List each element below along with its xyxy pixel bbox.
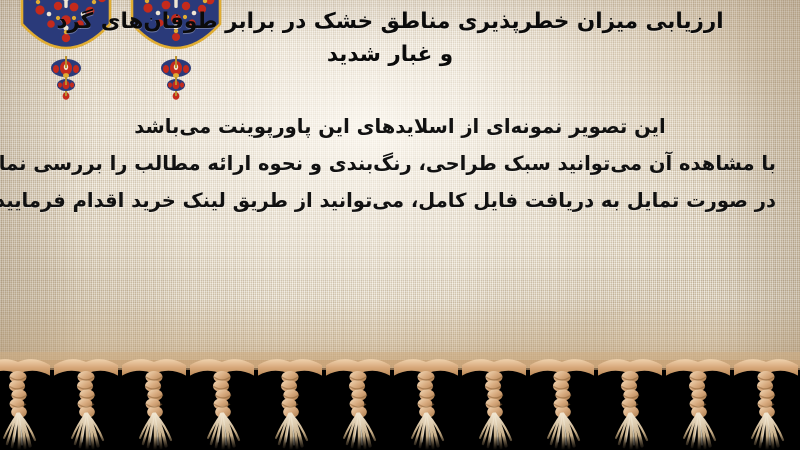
- fringe-svg: [0, 352, 800, 450]
- slide-body: این تصویر نمونه‌ای از اسلایدهای این پاور…: [0, 108, 800, 219]
- body-line-3: در صورت تمایل به دریافت فایل کامل، می‌تو…: [24, 182, 776, 219]
- title-line-2: و غبار شدید: [0, 38, 780, 71]
- slide-title: ارزیابی میزان خطرپذیری مناطق خشک در براب…: [0, 5, 790, 71]
- body-line-1: این تصویر نمونه‌ای از اسلایدهای این پاور…: [24, 108, 776, 145]
- slide-canvas: ارزیابی میزان خطرپذیری مناطق خشک در براب…: [0, 0, 800, 450]
- carpet-knotted-fringe: [0, 352, 800, 450]
- slide-text-layer: ارزیابی میزان خطرپذیری مناطق خشک در براب…: [0, 0, 800, 380]
- title-line-1: ارزیابی میزان خطرپذیری مناطق خشک در براب…: [0, 5, 780, 38]
- body-line-2: با مشاهده آن می‌توانید سبک طراحی، رنگ‌بن…: [24, 145, 776, 182]
